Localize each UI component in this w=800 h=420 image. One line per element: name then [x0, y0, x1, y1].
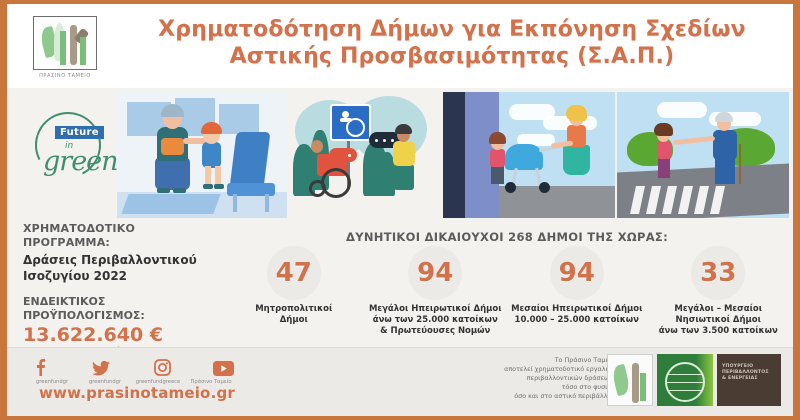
stat-caption-line-1: Μεσαίοι Ηπειρωτικοί Δήμοι [509, 304, 645, 315]
footer-logos: ΥΠΟΥΡΓΕΙΟ ΠΕΡΙΒΑΛΛΟΝΤΟΣ & ΕΝΕΡΓΕΙΑΣ [603, 354, 781, 406]
future-in-green-word-in: in [65, 141, 73, 151]
figure-hair [715, 112, 733, 122]
ministry-line-3: & ΕΝΕΡΓΕΙΑΣ [722, 376, 776, 382]
instagram-icon[interactable] [151, 359, 173, 376]
cloud-shape [657, 102, 707, 118]
stat-caption-line-1: Μεγάλοι – Μεσαίοι [651, 304, 787, 315]
wheelchair-caster [309, 180, 326, 197]
future-in-green-word-green: green [43, 146, 118, 177]
figure-torso [202, 142, 221, 168]
beneficiaries-stats-row: 47 Μητροπολιτικοί Δήμοι 94 Μεγάλοι Ηπειρ… [223, 246, 789, 337]
green-fund-emblem [657, 354, 713, 406]
globe-icon [665, 362, 705, 402]
figure-torso [657, 141, 671, 159]
green-fund-logo-caption: ΠΡΑΣΙΝΟ ΤΑΜΕΙΟ [23, 73, 107, 79]
stat-caption-line-3: άνω των 3.500 κατοίκων [651, 326, 787, 337]
figure-head [311, 140, 323, 153]
stem-shape [70, 25, 77, 65]
page-title-line-1: Χρηματοδότηση Δήμων για Εκπόνηση Σχεδίων [127, 16, 777, 43]
stat-circle: 47 [267, 246, 321, 300]
beneficiaries-heading: ΔΥΝΗΤΙΚΟΙ ΔΙΚΑΙΟΥΧΟΙ 268 ΔΗΜΟΙ ΤΗΣ ΧΩΡΑΣ… [227, 230, 787, 244]
social-links-block: greenfundgr greenfundgr greenfundgreece … [29, 354, 244, 385]
stat-item-island: 33 Μεγάλοι – Μεσαίοι Νησιωτικοί Δήμοι άν… [648, 246, 790, 337]
stat-caption-line-1: Μεγάλοι Ηπειρωτικοί Δήμοι [368, 304, 504, 315]
description-line-3: περιβαλλοντικών δράσεων, [455, 374, 615, 383]
program-label-line-1: ΧΡΗΜΑΤΟΔΟΤΙΚΟ [23, 222, 219, 236]
program-name-line-2: Ισοζυγίου 2022 [23, 268, 219, 284]
chair-leg-shape [265, 194, 269, 212]
wheelchair-figure-head [342, 111, 349, 118]
stat-item-metropolitan: 47 Μητροπολιτικοί Δήμοι [223, 246, 365, 337]
wheelchair-sign-icon [330, 104, 371, 141]
stat-caption-line-2: 10.000 – 25.000 κατοίκων [509, 315, 645, 326]
poster-header: ΠΡΑΣΙΝΟ ΤΑΜΕΙΟ Χρηματοδότηση Δήμων για Ε… [7, 4, 793, 88]
window-shape [219, 104, 259, 134]
stat-number: 94 [417, 260, 453, 286]
future-in-green-logo: green Future in [25, 108, 121, 186]
wheelchair-wheel [321, 168, 351, 198]
twitter-icon[interactable] [90, 361, 112, 376]
stem-shape [640, 373, 646, 401]
stat-item-large-mainland: 94 Μεγάλοι Ηπειρωτικοί Δήμοι άνω των 25.… [365, 246, 507, 337]
wheelchair-wheel [346, 118, 365, 137]
stat-number: 33 [700, 260, 736, 286]
figure-hair [489, 132, 506, 144]
illustration-band [7, 88, 793, 223]
green-fund-description: Το Πράσινο Ταμείο αποτελεί χρηματοδοτικό… [455, 356, 615, 401]
description-line-1: Το Πράσινο Ταμείο [455, 356, 615, 365]
stroller-body [505, 144, 543, 170]
stat-caption: Μεγάλοι – Μεσαίοι Νησιωτικοί Δήμοι άνω τ… [648, 304, 790, 337]
figure-leg [205, 166, 211, 186]
stem-shape [60, 31, 66, 65]
stat-item-medium-mainland: 94 Μεσαίοι Ηπειρωτικοί Δήμοι 10.000 – 25… [506, 246, 648, 337]
social-icons-row [29, 354, 234, 376]
figure-skirt [155, 158, 190, 190]
budget-label: ΕΝΔΕΙΚΤΙΚΟΣ ΠΡΟΫΠΟΛΟΓΙΣΜΟΣ: [23, 295, 219, 323]
facebook-icon[interactable] [29, 358, 51, 376]
description-line-2: αποτελεί χρηματοδοτικό εργαλείο [455, 365, 615, 374]
shoe-shape [214, 184, 224, 189]
page-title-line-2: Αστικής Προσβασιμότητας (Σ.Α.Π.) [127, 43, 777, 70]
ministry-logo: ΥΠΟΥΡΓΕΙΟ ΠΕΡΙΒΑΛΛΟΝΤΟΣ & ΕΝΕΡΓΕΙΑΣ [717, 354, 781, 406]
future-in-green-word-future: Future [55, 126, 104, 139]
shoe-shape [157, 188, 170, 193]
stat-caption-line-2: Νησιωτικοί Δήμοι [651, 315, 787, 326]
page-title: Χρηματοδότηση Δήμων για Εκπόνηση Σχεδίων… [127, 16, 777, 70]
figure-legs [491, 166, 504, 184]
stat-caption: Μεσαίοι Ηπειρωτικοί Δήμοι 10.000 – 25.00… [506, 304, 648, 326]
youtube-icon[interactable] [212, 361, 234, 376]
budget-value: 13.622.640 € [23, 324, 219, 347]
figure-torso [713, 130, 737, 160]
stat-caption-line-3: & Πρωτεύουσες Νομών [368, 326, 504, 337]
stem-shape [632, 363, 639, 403]
shoe-shape [173, 188, 186, 193]
figure-torso [490, 149, 505, 167]
rug-shape [121, 194, 220, 214]
stat-caption-line-2: άνω των 25.000 κατοίκων [368, 315, 504, 326]
stat-circle: 94 [550, 246, 604, 300]
illustration-crosswalk-help [617, 92, 789, 218]
green-fund-logo: ΠΡΑΣΙΝΟ ΤΑΜΕΙΟ [23, 16, 107, 86]
green-fund-footer-logo [607, 354, 653, 406]
figure-hair [654, 123, 673, 136]
program-info-block: ΧΡΗΜΑΤΟΔΟΤΙΚΟ ΠΡΟΓΡΑΜΜΑ: Δράσεις Περιβαλ… [23, 222, 219, 357]
figure-leg [215, 166, 221, 186]
poster-footer: greenfundgr greenfundgr greenfundgreece … [7, 347, 793, 416]
illustration-elderly-woman-and-child [117, 92, 287, 218]
shoe-shape [203, 184, 213, 189]
green-fund-logo-mark [33, 16, 97, 70]
figure-legs [394, 164, 414, 190]
figure-skirt [563, 145, 590, 175]
figure-torso [393, 141, 415, 166]
chair-back-shape [230, 132, 271, 188]
program-name-line-1: Δράσεις Περιβαλλοντικού [23, 252, 219, 268]
description-line-5: όσο και στο αστικό περιβάλλον [455, 392, 615, 401]
description-line-4: τόσο στο φυσικό [455, 383, 615, 392]
stat-caption-line-2: Δήμοι [226, 315, 362, 326]
figure-hair [395, 124, 412, 134]
walking-cane-shape [739, 144, 741, 184]
stat-caption: Μητροπολιτικοί Δήμοι [223, 304, 365, 326]
stat-number: 47 [276, 260, 312, 286]
stat-caption: Μεγάλοι Ηπειρωτικοί Δήμοι άνω των 25.000… [365, 304, 507, 337]
figure-hair [201, 122, 222, 134]
chair-leg-shape [233, 194, 237, 212]
leaf-icon [611, 364, 632, 396]
illustration-stroller-at-doorway [443, 92, 615, 218]
stat-caption-line-1: Μητροπολιτικοί [226, 304, 362, 315]
stat-circle: 33 [691, 246, 745, 300]
program-label-line-2: ΠΡΟΓΡΑΜΜΑ: [23, 236, 219, 250]
figure-legs [715, 158, 735, 184]
illustration-wheelchair-accessibility [289, 92, 441, 218]
stat-circle: 94 [408, 246, 462, 300]
stroller-wheel [539, 182, 550, 193]
figure-legs [658, 158, 670, 178]
figure-hair [566, 105, 587, 121]
stem-shape [80, 37, 86, 65]
figure-apron [161, 138, 184, 155]
website-url[interactable]: www.prasinotameio.gr [17, 384, 257, 402]
stat-number: 94 [559, 260, 595, 286]
infographic-poster: ΠΡΑΣΙΝΟ ΤΑΜΕΙΟ Χρηματοδότηση Δήμων για Ε… [0, 0, 800, 420]
stroller-wheel [505, 182, 516, 193]
